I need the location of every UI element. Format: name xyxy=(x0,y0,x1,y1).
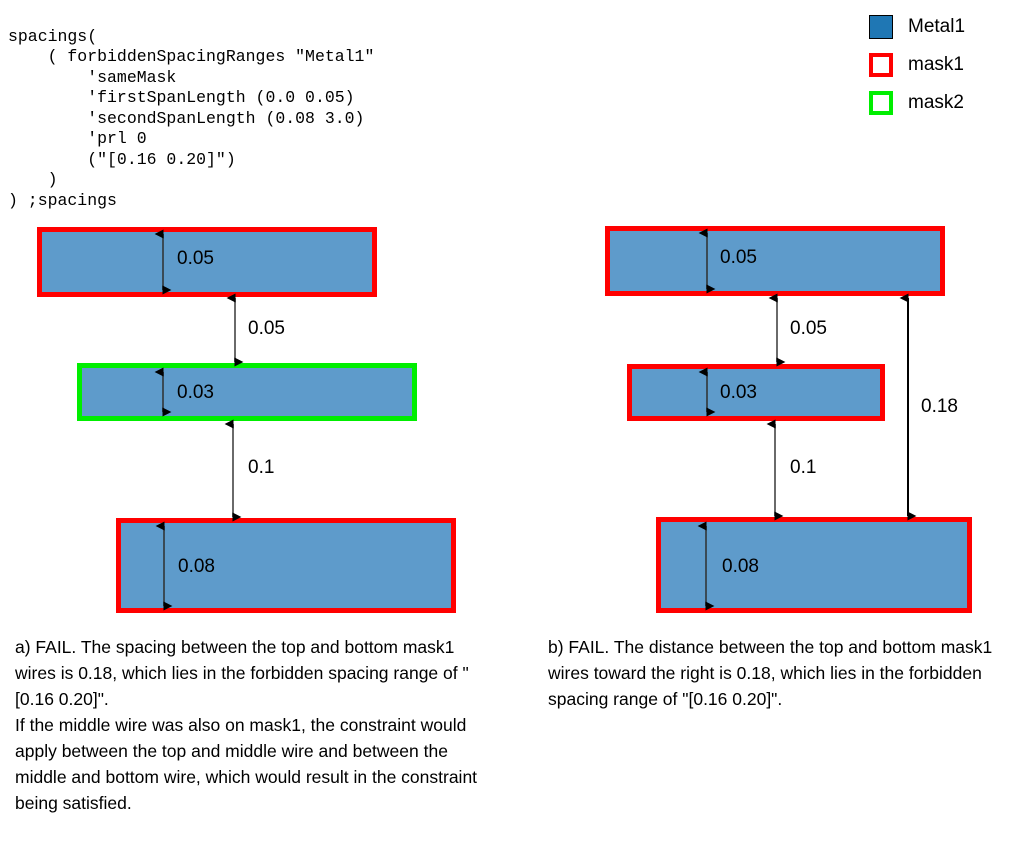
legend: Metal1 mask1 mask2 xyxy=(869,8,1009,122)
figure-a-top-thickness-label: 0.05 xyxy=(177,248,214,270)
legend-item-mask2: mask2 xyxy=(869,84,1009,122)
figure-b-bottom-wire xyxy=(656,517,972,613)
legend-label-mask2: mask2 xyxy=(908,92,964,114)
figure-a-bottom-wire xyxy=(116,518,456,613)
figure-a-top-middle-gap-label: 0.05 xyxy=(248,318,285,340)
figure-a-middle-bottom-gap-label: 0.1 xyxy=(248,457,274,479)
legend-label-mask1: mask1 xyxy=(908,54,964,76)
figure-a-bottom-thickness-label: 0.08 xyxy=(178,556,215,578)
figure-b-top-thickness-label: 0.05 xyxy=(720,247,757,269)
figure-a-caption: a) FAIL. The spacing between the top and… xyxy=(15,634,485,816)
figure-b-span-label: 0.18 xyxy=(921,396,958,418)
figure-b-caption: b) FAIL. The distance between the top an… xyxy=(548,634,1008,712)
figure-a-middle-wire xyxy=(77,363,417,421)
metal1-swatch-icon xyxy=(869,15,893,39)
legend-label-metal1: Metal1 xyxy=(908,16,965,38)
legend-item-metal1: Metal1 xyxy=(869,8,1009,46)
mask2-swatch-icon xyxy=(869,91,893,115)
mask1-swatch-icon xyxy=(869,53,893,77)
figure-b-top-middle-gap-label: 0.05 xyxy=(790,318,827,340)
figure-b-top-wire xyxy=(605,226,945,296)
figure-b-middle-bottom-gap-label: 0.1 xyxy=(790,457,816,479)
figure-b-bottom-thickness-label: 0.08 xyxy=(722,556,759,578)
spacings-code-block: spacings( ( forbiddenSpacingRanges "Meta… xyxy=(8,27,374,212)
legend-item-mask1: mask1 xyxy=(869,46,1009,84)
figure-a-middle-thickness-label: 0.03 xyxy=(177,382,214,404)
figure-b-middle-thickness-label: 0.03 xyxy=(720,382,757,404)
